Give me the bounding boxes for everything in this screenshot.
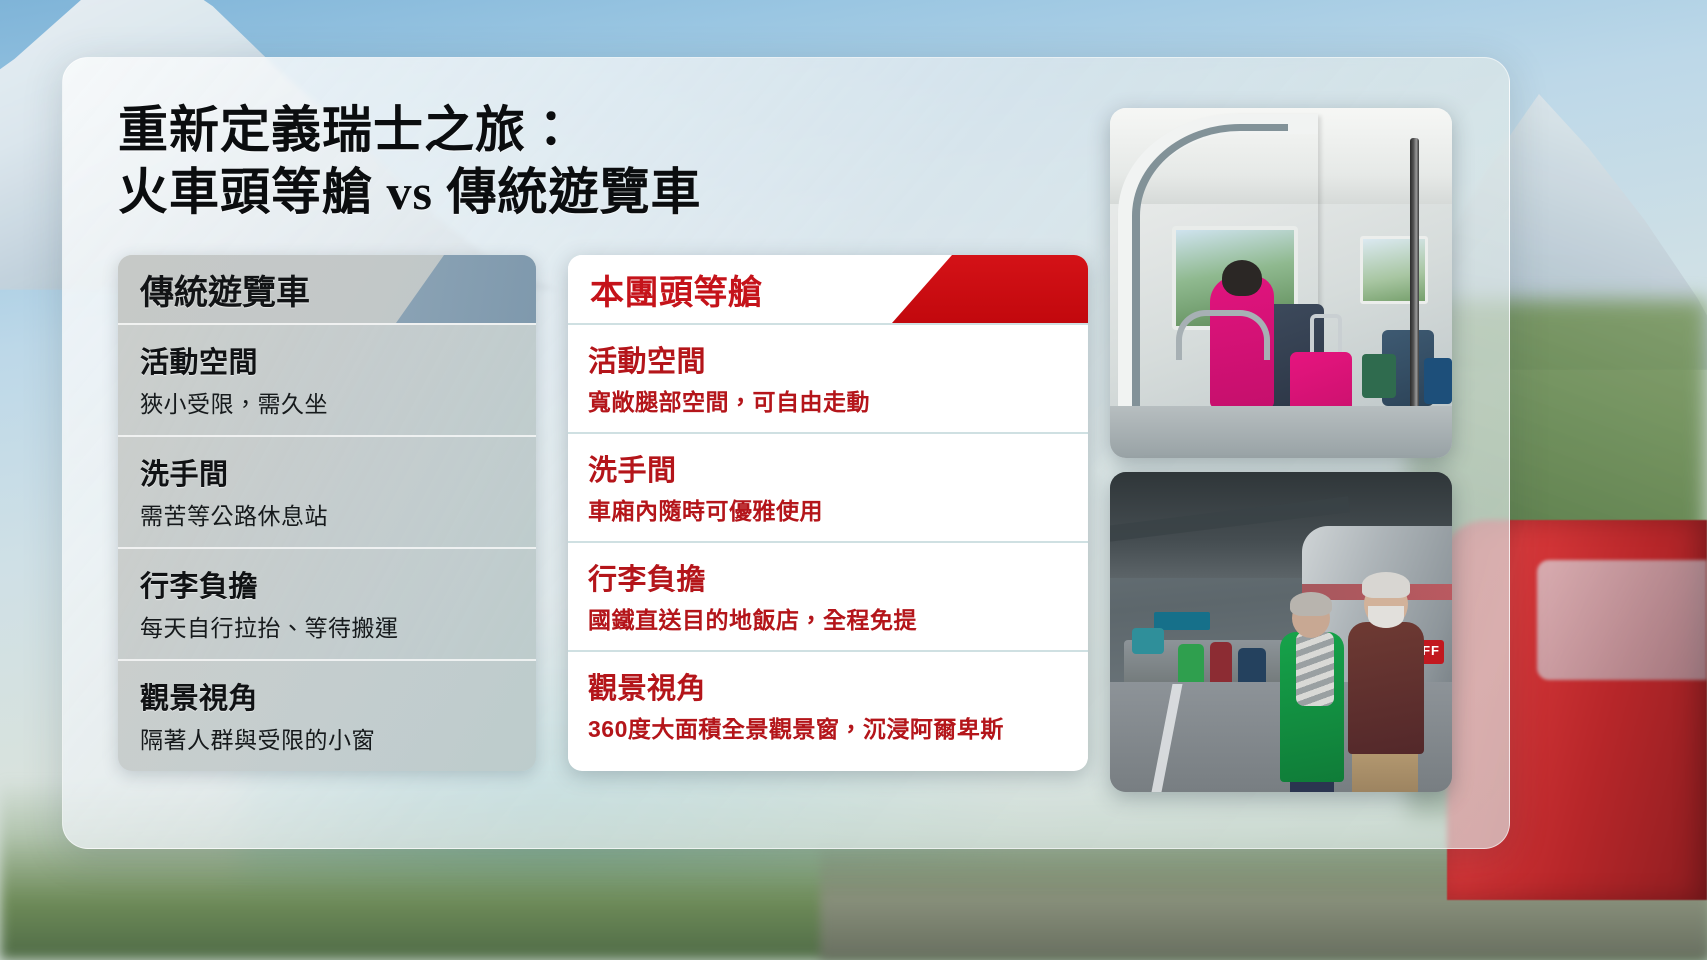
row-description: 寬敞腿部空間，可自由走動 bbox=[588, 383, 1068, 417]
table-row: 觀景視角 隔著人群與受限的小窗 bbox=[118, 661, 536, 771]
row-description: 隔著人群與受限的小窗 bbox=[140, 721, 514, 755]
train-seat-blue bbox=[1424, 358, 1452, 404]
train-seat-green bbox=[1362, 354, 1396, 398]
row-title: 觀景視角 bbox=[588, 665, 1068, 707]
row-title: 活動空間 bbox=[140, 339, 514, 381]
row-description: 360度大面積全景觀景窗，沉浸阿爾卑斯 bbox=[588, 710, 1068, 744]
train-interior-photo bbox=[1110, 108, 1452, 458]
row-description: 車廂內隨時可優雅使用 bbox=[588, 492, 1068, 526]
row-title: 行李負擔 bbox=[588, 556, 1068, 598]
row-title: 觀景視角 bbox=[140, 675, 514, 717]
row-title: 洗手間 bbox=[588, 447, 1068, 489]
column-first-class: 本團頭等艙 活動空間 寬敞腿部空間，可自由走動 洗手間 車廂內隨時可優雅使用 行… bbox=[568, 255, 1088, 771]
seat-handrail bbox=[1176, 310, 1270, 360]
row-description: 需苦等公路休息站 bbox=[140, 497, 514, 531]
platform-couple-photo: SBB CFF bbox=[1110, 472, 1452, 792]
column-header-first-class: 本團頭等艙 bbox=[568, 255, 1088, 325]
row-description: 狹小受限，需久坐 bbox=[140, 385, 514, 419]
row-description: 每天自行拉抬、等待搬運 bbox=[140, 609, 514, 643]
man-hair bbox=[1362, 572, 1410, 598]
column-header-label: 傳統遊覽車 bbox=[140, 265, 310, 314]
man-trousers bbox=[1352, 748, 1418, 792]
column-traditional-coach: 傳統遊覽車 活動空間 狹小受限，需久坐 洗手間 需苦等公路休息站 行李負擔 每天… bbox=[118, 255, 536, 771]
column-header-label: 本團頭等艙 bbox=[590, 265, 763, 314]
table-row: 活動空間 寬敞腿部空間，可自由走動 bbox=[568, 325, 1088, 434]
title-line-1: 重新定義瑞士之旅： bbox=[118, 100, 1078, 162]
row-title: 行李負擔 bbox=[140, 563, 514, 605]
table-row: 洗手間 需苦等公路休息站 bbox=[118, 437, 536, 549]
slide-canvas: 重新定義瑞士之旅： 火車頭等艙 vs 傳統遊覽車 傳統遊覽車 活動空間 狹小受限… bbox=[0, 0, 1707, 960]
man-sweater bbox=[1348, 622, 1424, 754]
background-red-train-window bbox=[1537, 560, 1707, 680]
row-title: 洗手間 bbox=[140, 451, 514, 493]
row-description: 國鐵直送目的地飯店，全程免提 bbox=[588, 601, 1068, 635]
table-row: 行李負擔 每天自行拉抬、等待搬運 bbox=[118, 549, 536, 661]
table-row: 觀景視角 360度大面積全景觀景窗，沉浸阿爾卑斯 bbox=[568, 652, 1088, 759]
row-title: 活動空間 bbox=[588, 338, 1068, 380]
woman-scarf bbox=[1296, 632, 1334, 706]
title-line-2: 火車頭等艙 vs 傳統遊覽車 bbox=[118, 162, 1078, 224]
train-floor bbox=[1110, 406, 1452, 458]
suitcase-teal bbox=[1132, 628, 1164, 654]
table-row: 活動空間 狹小受限，需久坐 bbox=[118, 325, 536, 437]
column-header-traditional-coach: 傳統遊覽車 bbox=[118, 255, 536, 325]
table-row: 行李負擔 國鐵直送目的地飯店，全程免提 bbox=[568, 543, 1088, 652]
man-beard bbox=[1368, 606, 1404, 628]
passenger-head bbox=[1222, 260, 1262, 296]
grab-pole bbox=[1410, 138, 1419, 426]
platform-sign bbox=[1154, 612, 1210, 630]
comparison-table: 傳統遊覽車 活動空間 狹小受限，需久坐 洗手間 需苦等公路休息站 行李負擔 每天… bbox=[118, 255, 1088, 771]
table-row: 洗手間 車廂內隨時可優雅使用 bbox=[568, 434, 1088, 543]
page-title: 重新定義瑞士之旅： 火車頭等艙 vs 傳統遊覽車 bbox=[118, 100, 1078, 223]
woman-hair bbox=[1290, 592, 1332, 616]
